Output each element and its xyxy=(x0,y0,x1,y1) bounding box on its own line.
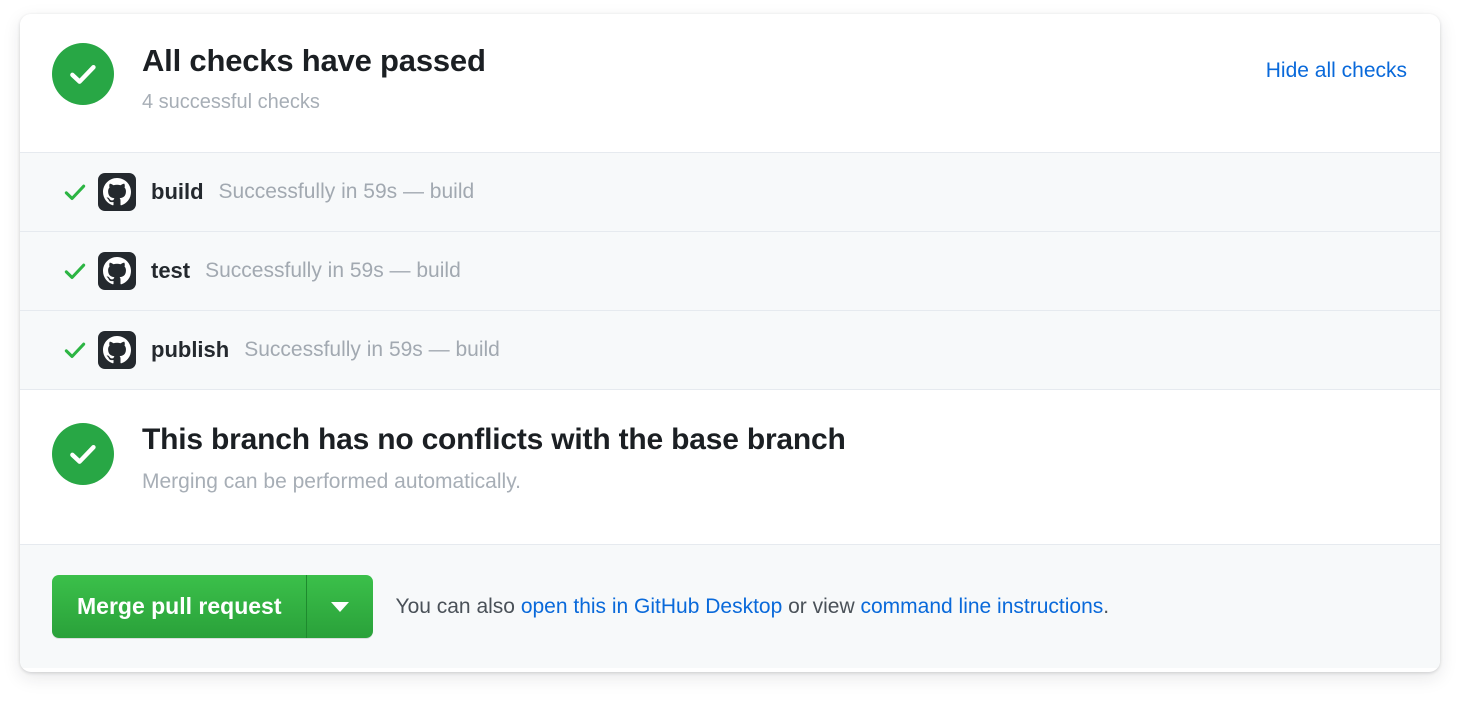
github-octocat-icon xyxy=(98,331,136,369)
table-row[interactable]: publish Successfully in 59s — build xyxy=(20,311,1440,390)
note-middle: or view xyxy=(782,595,860,618)
check-description: Successfully in 59s — build xyxy=(244,338,500,362)
conflict-title: This branch has no conflicts with the ba… xyxy=(142,421,846,459)
check-description: Successfully in 59s — build xyxy=(205,259,461,283)
table-row[interactable]: build Successfully in 59s — build xyxy=(20,153,1440,232)
conflict-status-section: This branch has no conflicts with the ba… xyxy=(20,390,1440,545)
conflict-subtitle: Merging can be performed automatically. xyxy=(142,469,846,494)
merge-button-group: Merge pull request xyxy=(52,575,373,638)
checks-title: All checks have passed xyxy=(142,42,486,81)
merge-footer: Merge pull request You can also open thi… xyxy=(20,545,1440,668)
checks-header: All checks have passed 4 successful chec… xyxy=(20,14,1440,153)
github-octocat-icon xyxy=(98,173,136,211)
merge-pull-request-button[interactable]: Merge pull request xyxy=(52,575,307,638)
merge-status-box: All checks have passed 4 successful chec… xyxy=(20,14,1440,672)
note-suffix: . xyxy=(1103,595,1109,618)
check-name: build xyxy=(151,179,204,205)
note-prefix: You can also xyxy=(395,595,520,618)
command-line-instructions-link[interactable]: command line instructions xyxy=(860,595,1103,618)
chevron-down-icon xyxy=(331,602,349,612)
check-name: publish xyxy=(151,337,229,363)
table-row[interactable]: test Successfully in 59s — build xyxy=(20,232,1440,311)
hide-all-checks-link[interactable]: Hide all checks xyxy=(1266,59,1407,83)
check-name: test xyxy=(151,258,190,284)
open-in-github-desktop-link[interactable]: open this in GitHub Desktop xyxy=(521,595,782,618)
page-root: All checks have passed 4 successful chec… xyxy=(0,0,1464,724)
checks-list: build Successfully in 59s — build test S… xyxy=(20,153,1440,390)
merge-options-dropdown-button[interactable] xyxy=(307,575,373,638)
check-circle-icon xyxy=(52,423,114,485)
merge-help-note: You can also open this in GitHub Desktop… xyxy=(395,595,1109,619)
check-icon xyxy=(52,337,98,363)
checks-subtitle: 4 successful checks xyxy=(142,90,486,114)
checks-header-text: All checks have passed 4 successful chec… xyxy=(142,40,486,114)
conflict-text: This branch has no conflicts with the ba… xyxy=(142,420,846,494)
check-description: Successfully in 59s — build xyxy=(219,180,475,204)
check-icon xyxy=(52,179,98,205)
github-octocat-icon xyxy=(98,252,136,290)
check-icon xyxy=(52,258,98,284)
check-circle-icon xyxy=(52,43,114,105)
